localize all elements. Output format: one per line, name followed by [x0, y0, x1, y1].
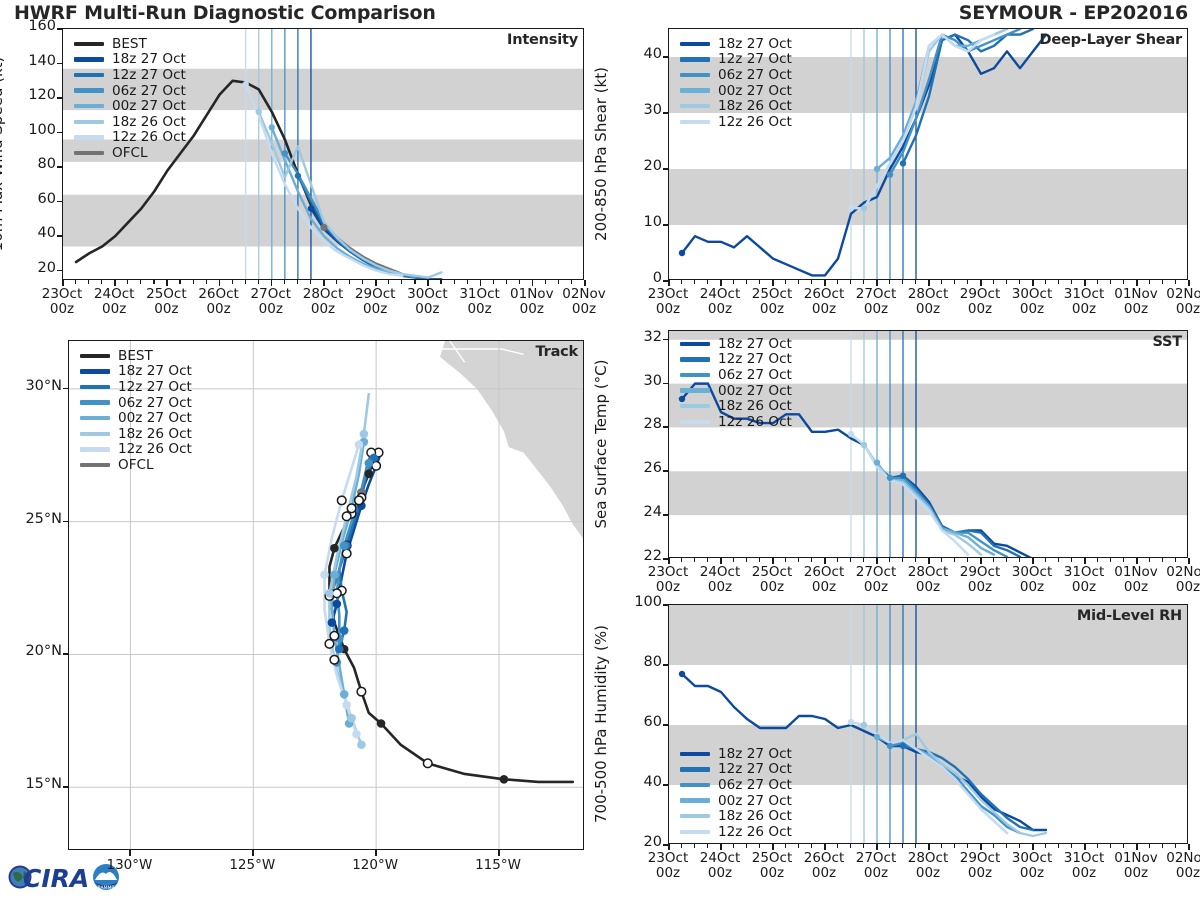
legend-item: 12z 27 Oct	[680, 762, 792, 778]
int-y-tickmark	[57, 235, 63, 237]
legend-label: 06z 27 Oct	[718, 367, 792, 383]
legend-label: 12z 26 Oct	[118, 441, 192, 457]
legend-label: 18z 26 Oct	[718, 808, 792, 824]
legend-item: 18z 27 Oct	[680, 36, 792, 52]
legend-item: 12z 26 Oct	[80, 442, 192, 458]
rh-y-tickmark	[663, 664, 669, 666]
rh-x-minor-tickmark	[837, 844, 838, 848]
legend-label: 12z 26 Oct	[718, 824, 792, 840]
int-x-minor-tickmark	[401, 280, 402, 284]
int-x-minor-tickmark	[506, 280, 507, 284]
legend-label: BEST	[112, 36, 147, 52]
int-x-minor-tickmark	[193, 280, 194, 284]
legend-swatch-06z-27-oct	[680, 373, 710, 377]
sst-x-minor-tickmark	[798, 558, 799, 562]
track-legend: BEST18z 27 Oct12z 27 Oct06z 27 Oct00z 27…	[80, 348, 192, 473]
sst-y-tickmark	[663, 383, 669, 385]
legend-item: 12z 27 Oct	[80, 379, 192, 395]
legend-swatch-18z-26-oct	[680, 104, 710, 108]
rh-x-minor-tickmark	[1110, 844, 1111, 848]
rh-x-minor-tickmark	[889, 844, 890, 848]
shr-x-minor-tickmark	[1058, 280, 1059, 284]
int-x-minor-tickmark	[140, 280, 141, 284]
shr-y-tickmark	[663, 56, 669, 58]
sst-x-minor-tickmark	[954, 558, 955, 562]
sst-x-minor-tickmark	[785, 558, 786, 562]
sst-x-minor-tickmark	[681, 558, 682, 562]
int-x-minor-tickmark	[258, 280, 259, 284]
int-y-tickmark	[57, 201, 63, 203]
track-y-tickmark	[63, 653, 69, 655]
rh-x-minor-tickmark	[941, 844, 942, 848]
int-y-tickmark	[57, 97, 63, 99]
legend-swatch-06z-27-oct	[80, 400, 110, 404]
rh-x-minor-tickmark	[707, 844, 708, 848]
int-x-minor-tickmark	[414, 280, 415, 284]
intensity-panel-title: Intensity	[507, 32, 578, 48]
shr-x-minor-tickmark	[941, 280, 942, 284]
sst-x-minor-tickmark	[1110, 558, 1111, 562]
rh-x-minor-tickmark	[1123, 844, 1124, 848]
track-y-tickmark	[63, 388, 69, 390]
legend-label: 00z 27 Oct	[718, 793, 792, 809]
legend-swatch-12z-27-oct	[680, 357, 710, 361]
track-x-tickmark	[129, 850, 131, 856]
sst-x-minor-tickmark	[967, 558, 968, 562]
page-title: HWRF Multi-Run Diagnostic Comparison	[14, 2, 436, 24]
sst-x-minor-tickmark	[746, 558, 747, 562]
sst-x-minor-tickmark	[1162, 558, 1163, 562]
rh-x-tick-label: 02Nov00z	[1156, 851, 1200, 881]
legend-label: 18z 27 Oct	[718, 36, 792, 52]
legend-label: 06z 27 Oct	[718, 777, 792, 793]
shr-x-minor-tickmark	[954, 280, 955, 284]
int-x-minor-tickmark	[310, 280, 311, 284]
legend-label: 00z 27 Oct	[118, 410, 192, 426]
legend-swatch-12z-27-oct	[680, 57, 710, 61]
shr-y-tick: 30	[622, 102, 662, 118]
rh-x-minor-tickmark	[746, 844, 747, 848]
sst-legend: 18z 27 Oct12z 27 Oct06z 27 Oct00z 27 Oct…	[680, 336, 792, 430]
legend-label: 18z 27 Oct	[118, 363, 192, 379]
rh-x-minor-tickmark	[850, 844, 851, 848]
legend-label: 18z 26 Oct	[118, 426, 192, 442]
legend-swatch-12z-26-oct	[680, 420, 710, 424]
sst-y-tickmark	[663, 339, 669, 341]
int-x-minor-tickmark	[245, 280, 246, 284]
legend-label: 06z 27 Oct	[112, 83, 186, 99]
shear-panel-title: Deep-Layer Shear	[1039, 32, 1182, 48]
int-y-tickmark	[57, 63, 63, 65]
shr-x-minor-tickmark	[785, 280, 786, 284]
shr-x-minor-tickmark	[1162, 280, 1163, 284]
sst-x-minor-tickmark	[707, 558, 708, 562]
legend-swatch-12z-26-oct	[74, 135, 104, 139]
int-y-tickmark	[57, 28, 63, 30]
rh-y-tick: 60	[622, 714, 662, 730]
legend-item: 18z 26 Oct	[680, 808, 792, 824]
shr-y-tick: 10	[622, 214, 662, 230]
intensity-y-axis-label: 10m Max Wind Speed (kt)	[0, 28, 6, 280]
int-x-minor-tickmark	[75, 280, 76, 284]
rh-x-minor-tickmark	[1071, 844, 1072, 848]
track-y-tickmark	[63, 521, 69, 523]
legend-label: 00z 27 Oct	[718, 383, 792, 399]
shr-x-minor-tickmark	[889, 280, 890, 284]
legend-swatch-18z-26-oct	[74, 120, 104, 124]
legend-item: OFCL	[80, 457, 192, 473]
shr-x-minor-tickmark	[1123, 280, 1124, 284]
shr-x-minor-tickmark	[1097, 280, 1098, 284]
legend-swatch-00z-27-oct	[680, 388, 710, 392]
legend-label: 00z 27 Oct	[718, 83, 792, 99]
shr-x-minor-tickmark	[915, 280, 916, 284]
legend-item: 06z 27 Oct	[680, 367, 792, 383]
sst-x-minor-tickmark	[1175, 558, 1176, 562]
shr-x-minor-tickmark	[1006, 280, 1007, 284]
shr-x-minor-tickmark	[1019, 280, 1020, 284]
int-x-minor-tickmark	[362, 280, 363, 284]
shear-y-axis-label: 200-850 hPa Shear (kt)	[592, 28, 610, 280]
shr-y-tick: 40	[622, 46, 662, 62]
int-y-tickmark	[57, 270, 63, 272]
sst-x-minor-tickmark	[902, 558, 903, 562]
legend-label: 12z 26 Oct	[718, 114, 792, 130]
sst-x-minor-tickmark	[863, 558, 864, 562]
int-x-minor-tickmark	[558, 280, 559, 284]
rh-x-minor-tickmark	[1149, 844, 1150, 848]
legend-label: 00z 27 Oct	[112, 98, 186, 114]
int-x-minor-tickmark	[388, 280, 389, 284]
rh-x-minor-tickmark	[993, 844, 994, 848]
legend-swatch-12z-27-oct	[680, 767, 710, 771]
legend-item: 18z 26 Oct	[680, 98, 792, 114]
int-x-minor-tickmark	[336, 280, 337, 284]
legend-item: 12z 26 Oct	[680, 414, 792, 430]
int-y-tick: 100	[16, 122, 56, 138]
legend-item: 06z 27 Oct	[680, 67, 792, 83]
rh-legend: 18z 27 Oct12z 27 Oct06z 27 Oct00z 27 Oct…	[680, 746, 792, 840]
track-x-tick-label: 115°W	[458, 858, 538, 873]
legend-swatch-18z-27-oct	[74, 57, 104, 61]
legend-item: 12z 27 Oct	[74, 67, 186, 83]
shr-x-minor-tickmark	[707, 280, 708, 284]
int-y-tick: 120	[16, 87, 56, 103]
legend-label: 12z 27 Oct	[112, 67, 186, 83]
rh-x-minor-tickmark	[1162, 844, 1163, 848]
rh-x-minor-tickmark	[798, 844, 799, 848]
int-x-minor-tickmark	[232, 280, 233, 284]
legend-item: 00z 27 Oct	[680, 83, 792, 99]
legend-swatch-12z-26-oct	[80, 447, 110, 451]
int-x-minor-tickmark	[493, 280, 494, 284]
shr-x-minor-tickmark	[694, 280, 695, 284]
int-x-minor-tickmark	[571, 280, 572, 284]
int-x-minor-tickmark	[545, 280, 546, 284]
rh-x-minor-tickmark	[1045, 844, 1046, 848]
legend-label: BEST	[118, 348, 153, 364]
legend-swatch-06z-27-oct	[680, 783, 710, 787]
rh-y-tickmark	[663, 724, 669, 726]
sst-y-tick: 24	[622, 504, 662, 520]
int-x-minor-tickmark	[101, 280, 102, 284]
track-y-tick: 20°N	[4, 643, 62, 659]
int-y-tick: 80	[16, 156, 56, 172]
legend-item: BEST	[74, 36, 186, 52]
shr-x-minor-tickmark	[811, 280, 812, 284]
legend-label: 18z 26 Oct	[718, 98, 792, 114]
legend-label: 12z 26 Oct	[718, 414, 792, 430]
sst-y-tickmark	[663, 514, 669, 516]
int-y-tick: 160	[16, 18, 56, 34]
int-x-minor-tickmark	[284, 280, 285, 284]
legend-swatch-06z-27-oct	[74, 88, 104, 92]
sst-y-tick: 26	[622, 460, 662, 476]
legend-swatch-00z-27-oct	[680, 88, 710, 92]
track-x-tickmark	[252, 850, 254, 856]
shr-x-minor-tickmark	[850, 280, 851, 284]
track-x-tick-label: 125°W	[212, 858, 292, 873]
sst-x-minor-tickmark	[1006, 558, 1007, 562]
legend-label: 06z 27 Oct	[118, 395, 192, 411]
shr-x-minor-tickmark	[863, 280, 864, 284]
rh-x-minor-tickmark	[1175, 844, 1176, 848]
track-y-tick: 25°N	[4, 511, 62, 527]
int-y-tick: 140	[16, 53, 56, 69]
legend-swatch-18z-27-oct	[80, 369, 110, 373]
rh-x-minor-tickmark	[1019, 844, 1020, 848]
sst-x-minor-tickmark	[1123, 558, 1124, 562]
int-x-minor-tickmark	[297, 280, 298, 284]
int-y-tick: 60	[16, 191, 56, 207]
legend-label: 06z 27 Oct	[718, 67, 792, 83]
sst-x-minor-tickmark	[759, 558, 760, 562]
int-x-minor-tickmark	[179, 280, 180, 284]
track-x-tickmark	[498, 850, 500, 856]
legend-swatch-ofcl	[74, 151, 104, 155]
shr-x-minor-tickmark	[1149, 280, 1150, 284]
legend-item: BEST	[80, 348, 192, 364]
shr-x-minor-tickmark	[798, 280, 799, 284]
sst-x-tick-label: 02Nov00z	[1156, 565, 1200, 595]
sst-x-minor-tickmark	[889, 558, 890, 562]
rh-x-minor-tickmark	[1058, 844, 1059, 848]
rh-x-minor-tickmark	[1006, 844, 1007, 848]
legend-label: 18z 27 Oct	[718, 746, 792, 762]
svg-text:RAMMB: RAMMB	[98, 885, 115, 891]
storm-title: SEYMOUR - EP202016	[959, 2, 1188, 24]
shr-y-tickmark	[663, 224, 669, 226]
shr-x-minor-tickmark	[746, 280, 747, 284]
legend-swatch-18z-26-oct	[680, 814, 710, 818]
legend-label: 18z 26 Oct	[718, 398, 792, 414]
legend-item: 00z 27 Oct	[680, 793, 792, 809]
shr-x-minor-tickmark	[681, 280, 682, 284]
int-y-tickmark	[57, 132, 63, 134]
legend-swatch-12z-27-oct	[74, 73, 104, 77]
legend-swatch-18z-26-oct	[80, 432, 110, 436]
shr-y-tick: 0	[622, 270, 662, 286]
track-x-tick-label: 120°W	[335, 858, 415, 873]
int-x-minor-tickmark	[88, 280, 89, 284]
rh-x-minor-tickmark	[967, 844, 968, 848]
legend-swatch-best	[80, 354, 110, 358]
rh-y-tick: 80	[622, 654, 662, 670]
legend-item: 00z 27 Oct	[680, 383, 792, 399]
sst-x-minor-tickmark	[1071, 558, 1072, 562]
int-y-tick: 20	[16, 260, 56, 276]
figure-canvas: HWRF Multi-Run Diagnostic Comparison SEY…	[0, 0, 1200, 900]
sst-x-minor-tickmark	[837, 558, 838, 562]
rh-x-minor-tickmark	[954, 844, 955, 848]
rh-panel-title: Mid-Level RH	[1077, 608, 1182, 624]
sst-x-minor-tickmark	[811, 558, 812, 562]
shr-x-minor-tickmark	[733, 280, 734, 284]
legend-label: 12z 27 Oct	[718, 761, 792, 777]
rh-x-minor-tickmark	[915, 844, 916, 848]
intensity-legend: BEST18z 27 Oct12z 27 Oct06z 27 Oct00z 27…	[74, 36, 186, 161]
legend-item: 06z 27 Oct	[80, 395, 192, 411]
rh-x-minor-tickmark	[681, 844, 682, 848]
int-x-tick-label: 02Nov00z	[552, 287, 616, 317]
int-y-tickmark	[57, 166, 63, 168]
legend-swatch-best	[74, 42, 104, 46]
sst-x-minor-tickmark	[733, 558, 734, 562]
sst-x-minor-tickmark	[1045, 558, 1046, 562]
shear-legend: 18z 27 Oct12z 27 Oct06z 27 Oct00z 27 Oct…	[680, 36, 792, 130]
rh-y-tick: 40	[622, 774, 662, 790]
sst-y-tick: 22	[622, 548, 662, 564]
svg-text:CIRA: CIRA	[23, 864, 89, 893]
sst-x-minor-tickmark	[1097, 558, 1098, 562]
legend-item: 06z 27 Oct	[74, 83, 186, 99]
sst-panel-title: SST	[1152, 334, 1182, 350]
legend-item: 18z 27 Oct	[74, 52, 186, 68]
rh-x-minor-tickmark	[759, 844, 760, 848]
legend-item: 18z 26 Oct	[80, 426, 192, 442]
legend-swatch-00z-27-oct	[74, 104, 104, 108]
track-y-tickmark	[63, 786, 69, 788]
shr-x-minor-tickmark	[1045, 280, 1046, 284]
shr-x-minor-tickmark	[1071, 280, 1072, 284]
legend-swatch-18z-27-oct	[680, 342, 710, 346]
sst-x-minor-tickmark	[850, 558, 851, 562]
legend-item: 12z 27 Oct	[680, 52, 792, 68]
sst-y-tickmark	[663, 470, 669, 472]
legend-item: 18z 27 Oct	[80, 364, 192, 380]
legend-label: 12z 26 Oct	[112, 129, 186, 145]
legend-item: 18z 27 Oct	[680, 336, 792, 352]
legend-label: OFCL	[112, 145, 148, 161]
sst-x-minor-tickmark	[1149, 558, 1150, 562]
legend-swatch-18z-27-oct	[680, 752, 710, 756]
sst-y-tick: 32	[622, 329, 662, 345]
rh-x-minor-tickmark	[733, 844, 734, 848]
legend-swatch-12z-26-oct	[680, 120, 710, 124]
shr-y-tick: 20	[622, 158, 662, 174]
legend-label: OFCL	[118, 457, 154, 473]
shr-x-minor-tickmark	[837, 280, 838, 284]
legend-swatch-12z-26-oct	[680, 830, 710, 834]
int-x-minor-tickmark	[454, 280, 455, 284]
sst-y-tick: 30	[622, 373, 662, 389]
shr-y-tickmark	[663, 112, 669, 114]
shr-x-minor-tickmark	[1110, 280, 1111, 284]
legend-label: 18z 26 Oct	[112, 114, 186, 130]
track-y-tick: 15°N	[4, 776, 62, 792]
legend-label: 12z 27 Oct	[718, 51, 792, 67]
legend-item: 12z 26 Oct	[680, 114, 792, 130]
legend-label: 18z 27 Oct	[718, 336, 792, 352]
rh-y-tickmark	[663, 784, 669, 786]
rh-x-minor-tickmark	[785, 844, 786, 848]
legend-item: 00z 27 Oct	[74, 98, 186, 114]
legend-label: 12z 27 Oct	[118, 379, 192, 395]
shr-x-minor-tickmark	[993, 280, 994, 284]
sst-x-minor-tickmark	[1019, 558, 1020, 562]
shr-x-minor-tickmark	[967, 280, 968, 284]
legend-swatch-06z-27-oct	[680, 73, 710, 77]
shr-y-tickmark	[663, 168, 669, 170]
int-x-minor-tickmark	[467, 280, 468, 284]
track-x-tick-label: 130°W	[89, 858, 169, 873]
sst-y-tickmark	[663, 426, 669, 428]
rh-x-minor-tickmark	[863, 844, 864, 848]
legend-item: 00z 27 Oct	[80, 410, 192, 426]
legend-item: 18z 27 Oct	[680, 746, 792, 762]
shr-x-tick-label: 02Nov00z	[1156, 287, 1200, 317]
rh-y-tick: 100	[622, 594, 662, 610]
legend-item: 06z 27 Oct	[680, 777, 792, 793]
legend-swatch-ofcl	[80, 463, 110, 467]
int-x-minor-tickmark	[519, 280, 520, 284]
rh-y-tick: 20	[622, 834, 662, 850]
sst-y-tick: 28	[622, 416, 662, 432]
legend-swatch-00z-27-oct	[80, 416, 110, 420]
sst-x-minor-tickmark	[1058, 558, 1059, 562]
legend-swatch-12z-27-oct	[80, 385, 110, 389]
sst-y-axis-label: Sea Surface Temp (°C)	[592, 330, 610, 558]
legend-swatch-18z-26-oct	[680, 404, 710, 408]
legend-item: 18z 26 Oct	[680, 398, 792, 414]
shr-x-minor-tickmark	[759, 280, 760, 284]
rh-x-minor-tickmark	[694, 844, 695, 848]
track-panel-title: Track	[536, 344, 578, 360]
rh-y-axis-label: 700-500 hPa Humidity (%)	[592, 604, 610, 844]
sst-x-minor-tickmark	[993, 558, 994, 562]
sst-x-minor-tickmark	[915, 558, 916, 562]
legend-swatch-18z-27-oct	[680, 42, 710, 46]
legend-item: 12z 27 Oct	[680, 352, 792, 368]
rh-x-minor-tickmark	[902, 844, 903, 848]
legend-label: 18z 27 Oct	[112, 51, 186, 67]
int-x-minor-tickmark	[127, 280, 128, 284]
rh-x-minor-tickmark	[811, 844, 812, 848]
track-x-tickmark	[375, 850, 377, 856]
legend-item: 12z 26 Oct	[74, 130, 186, 146]
rh-x-minor-tickmark	[1097, 844, 1098, 848]
shr-x-minor-tickmark	[1175, 280, 1176, 284]
shr-x-minor-tickmark	[902, 280, 903, 284]
int-x-minor-tickmark	[440, 280, 441, 284]
legend-item: 18z 26 Oct	[74, 114, 186, 130]
sst-x-minor-tickmark	[694, 558, 695, 562]
int-x-minor-tickmark	[153, 280, 154, 284]
int-x-minor-tickmark	[206, 280, 207, 284]
legend-item: OFCL	[74, 145, 186, 161]
track-y-tick: 30°N	[4, 378, 62, 394]
sst-x-minor-tickmark	[941, 558, 942, 562]
